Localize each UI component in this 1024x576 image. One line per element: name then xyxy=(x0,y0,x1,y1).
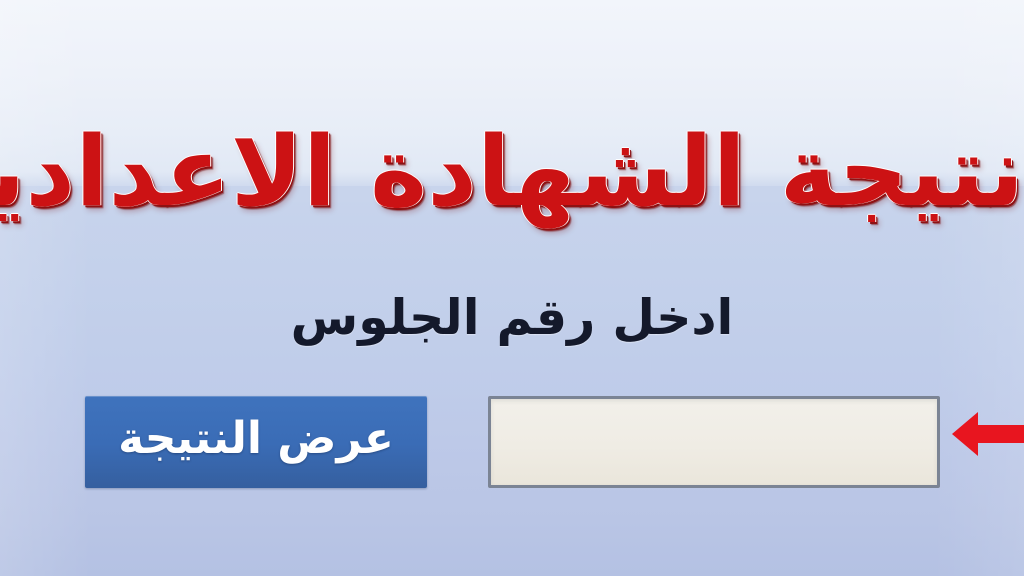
page-title: نتيجة الشهادة الاعدادية xyxy=(0,113,1024,231)
background-bottom-band xyxy=(0,186,1024,576)
result-lookup-page: نتيجة الشهادة الاعدادية ادخل رقم الجلوس … xyxy=(0,0,1024,576)
arrow-left-icon xyxy=(952,406,1024,462)
seat-number-label: ادخل رقم الجلوس xyxy=(0,285,1024,351)
show-result-button[interactable]: عرض النتيجة xyxy=(85,396,427,488)
seat-number-input[interactable] xyxy=(488,396,940,488)
